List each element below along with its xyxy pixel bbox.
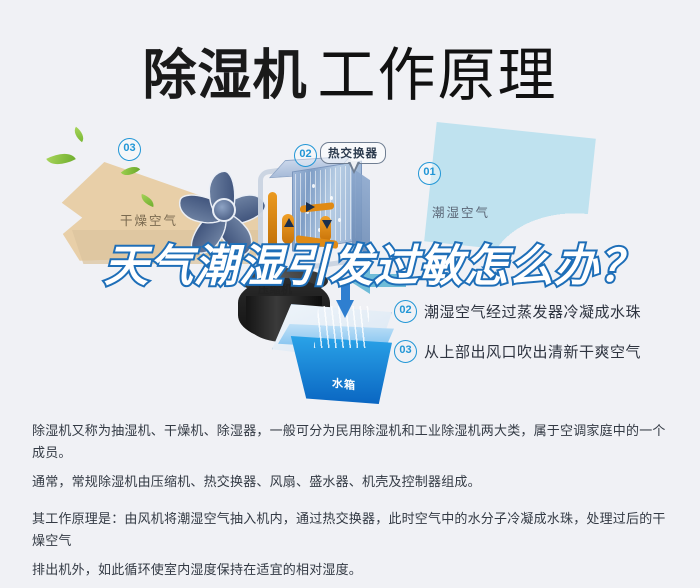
legend-badge-03: 03 [394, 340, 417, 363]
diagram-badge-03: 03 [118, 138, 141, 161]
legend-badge-02: 02 [394, 300, 417, 323]
diagram-badge-02: 02 [294, 144, 317, 167]
page-title-part1: 除湿机 [142, 46, 307, 106]
water-tank-label: 水箱 [332, 375, 356, 394]
flow-arrow-up-icon [284, 218, 294, 227]
list-item: 03 从上部出风口吹出清新干爽空气 [394, 340, 694, 363]
humid-air-curved-arrow [424, 122, 596, 258]
paragraph-2: 通常，常规除湿机由压缩机、热交换器、风扇、盛水器、机壳及控制器组成。 [32, 471, 672, 493]
flow-arrow-right-icon [306, 202, 315, 212]
condensation-drop [330, 196, 333, 200]
page-title-part2: 工作原理 [317, 43, 557, 108]
paragraph-1: 除湿机又称为抽湿机、干燥机、除湿器，一般可分为民用除湿机和工业除湿机两大类，属于… [32, 420, 672, 464]
paragraph-3: 其工作原理是：由风机将潮湿空气抽入机内，通过热交换器，此时空气中的水分子冷凝成水… [32, 508, 672, 552]
legend-item-label: 从上部出风口吹出清新干爽空气 [424, 341, 641, 362]
legend-list: 02 潮湿空气经过蒸发器冷凝成水珠 03 从上部出风口吹出清新干爽空气 [394, 300, 694, 380]
legend-item-label: 潮湿空气经过蒸发器冷凝成水珠 [424, 301, 641, 322]
downflow-arrow-head-icon [336, 300, 354, 318]
article-body: 除湿机又称为抽湿机、干燥机、除湿器，一般可分为民用除湿机和工业除湿机两大类，属于… [32, 420, 672, 588]
callout-pointer-icon [348, 162, 360, 174]
paragraph-4: 排出机外，如此循环使室内湿度保持在适宜的相对湿度。 [32, 559, 672, 581]
overlay-headline: 天气潮湿引发过敏怎么办？ [104, 243, 644, 291]
fan-hub [212, 198, 236, 222]
condensation-drop [338, 218, 341, 222]
flow-arrow-down-icon [322, 220, 332, 229]
page-root: 除湿机工作原理 [0, 0, 700, 566]
diagram-badge-01: 01 [418, 162, 441, 185]
page-title: 除湿机工作原理 [0, 28, 700, 112]
dry-air-label: 干燥空气 [120, 210, 178, 229]
condensation-drop [312, 184, 315, 188]
leaf-icon [46, 147, 76, 172]
leaf-icon [71, 127, 88, 143]
paragraph-spacer [32, 500, 672, 508]
list-item: 02 潮湿空气经过蒸发器冷凝成水珠 [394, 300, 694, 323]
humid-air-label: 潮湿空气 [432, 202, 490, 221]
